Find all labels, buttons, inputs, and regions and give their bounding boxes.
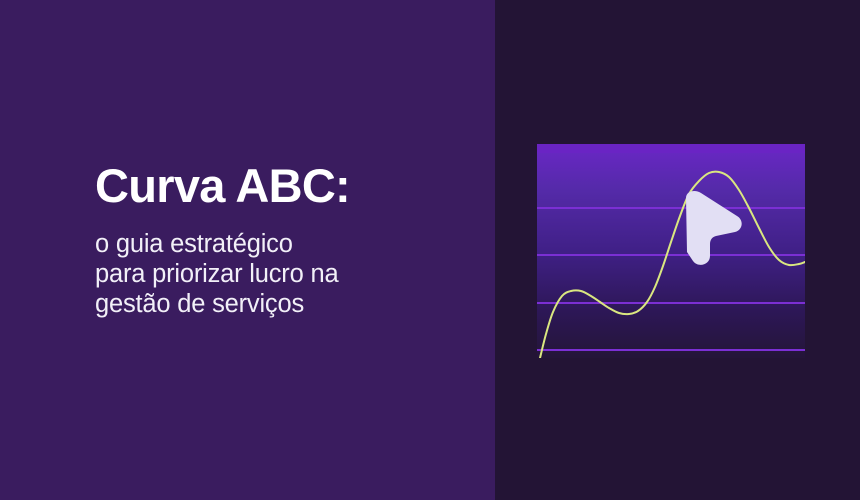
chart-panel-background [537, 144, 805, 358]
gridline-2 [537, 302, 805, 304]
slide-canvas: Curva ABC: o guia estratégico para prior… [0, 0, 860, 500]
gridline-0 [537, 207, 805, 209]
gridline-1 [537, 254, 805, 256]
abc-curve-chart [537, 144, 805, 358]
subtitle-line-3: gestão de serviços [95, 289, 475, 319]
chart-top-band [537, 144, 805, 153]
chart-illustration [537, 144, 805, 358]
gridline-3 [537, 349, 805, 351]
subtitle-line-1: o guia estratégico [95, 229, 475, 259]
page-title: Curva ABC: [95, 158, 475, 214]
subtitle-line-2: para priorizar lucro na [95, 259, 475, 289]
headline-block: Curva ABC: o guia estratégico para prior… [95, 158, 475, 319]
page-subtitle: o guia estratégico para priorizar lucro … [95, 229, 475, 319]
